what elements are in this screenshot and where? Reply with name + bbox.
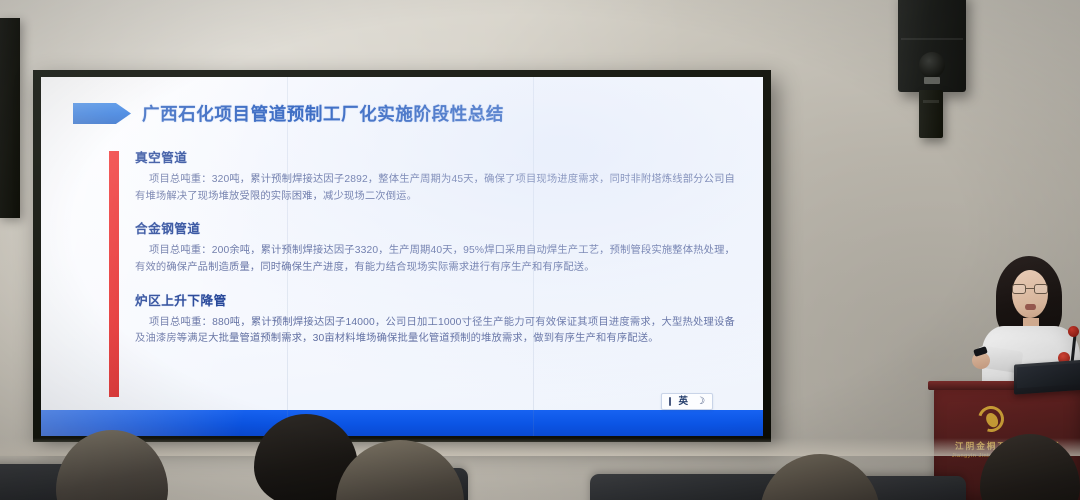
wall-panel-strip (0, 18, 20, 218)
section-list: 真空管道 项目总吨重：320吨，累计预制焊接达因子2892，整体生产周期为45天… (135, 147, 747, 348)
section-furnace-riser-downcomer: 炉区上升下降管 项目总吨重：880吨，累计预制焊接达因子14000，公司日加工1… (135, 290, 747, 348)
audience-row (0, 380, 1080, 500)
speaker-brand-badge (924, 77, 940, 84)
pennant-arrow-icon (73, 103, 131, 124)
slide-content: 真空管道 项目总吨重：320吨，累计预制焊接达因子2892，整体生产周期为45天… (109, 147, 747, 390)
section-heading: 合金钢管道 (135, 218, 747, 237)
red-accent-bar (109, 151, 119, 397)
wall-speaker-icon (898, 0, 966, 92)
speaker-cone (919, 52, 945, 78)
section-body: 项目总吨重：880吨，累计预制焊接达因子14000，公司日加工1000寸径生产能… (135, 315, 735, 348)
audience-head (336, 440, 464, 500)
section-vacuum-pipeline: 真空管道 项目总吨重：320吨，累计预制焊接达因子2892，整体生产周期为45天… (135, 147, 747, 205)
audience-head (760, 454, 880, 500)
speaker-mount-bracket (919, 90, 943, 138)
section-heading: 炉区上升下降管 (135, 290, 747, 309)
section-alloy-steel-pipeline: 合金钢管道 项目总吨重：200余吨，累计预制焊接达因子3320，生产周期40天，… (135, 218, 747, 276)
presenter-mouth (1025, 304, 1036, 310)
audience-head (56, 430, 168, 500)
speaker-seam (901, 38, 963, 40)
page-title: 广西石化项目管道预制工厂化实施阶段性总结 (142, 101, 504, 126)
section-heading: 真空管道 (135, 147, 747, 166)
microphone-icon (1068, 326, 1079, 337)
eyeglasses-icon (1012, 284, 1048, 294)
audience-head (980, 434, 1080, 500)
section-body: 项目总吨重：320吨，累计预制焊接达因子2892，整体生产周期为45天，确保了项… (135, 172, 735, 205)
conference-room-scene: 广西石化项目管道预制工厂化实施阶段性总结 真空管道 项目总吨重：320吨，累计预… (0, 0, 1080, 500)
presenter-face (1012, 270, 1048, 318)
slide-title-row: 广西石化项目管道预制工厂化实施阶段性总结 (41, 101, 504, 126)
section-body: 项目总吨重：200余吨，累计预制焊接达因子3320，生产周期40天，95%焊口采… (135, 243, 735, 276)
